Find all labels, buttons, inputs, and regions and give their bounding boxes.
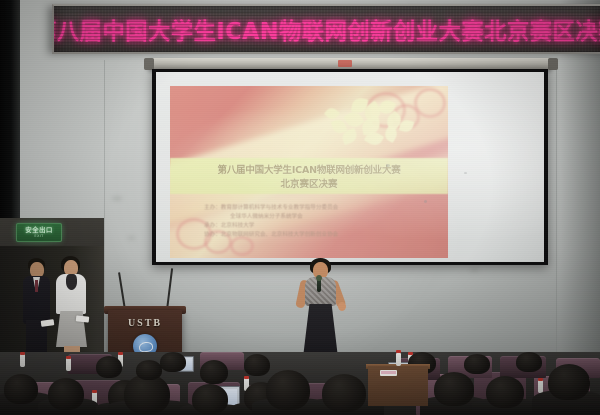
auditorium-photo: 第八届中国大学生ICAN物联网创新创业大赛北京赛区决赛	[0, 0, 600, 415]
microphone-head	[316, 275, 322, 281]
projected-slide: 第八届中国大学生ICAN物联网创新创业大赛 北京赛区决赛 主办：教育部计算机科学…	[170, 86, 448, 258]
slide-credit-line-2: 全球华人微纳米分子系统学会	[204, 213, 434, 222]
slide-floral-ornament	[322, 96, 434, 154]
wall-left-dark-panel-inner	[0, 246, 104, 366]
slide-credit-line-3: 承办：北京科技大学	[204, 222, 434, 231]
audience-member-head	[200, 360, 228, 384]
projection-screen: 第八届中国大学生ICAN物联网创新创业大赛 北京赛区决赛 主办：教育部计算机科学…	[156, 72, 544, 262]
woman-dark-scarf	[66, 274, 77, 290]
water-bottle-cap	[20, 352, 25, 355]
led-banner-text: 第八届中国大学生ICAN物联网创新创业大赛北京赛区决赛	[52, 12, 600, 46]
audience-member-head	[48, 378, 84, 410]
water-bottle	[66, 358, 71, 371]
slide-title-line2: 北京赛区决赛	[170, 176, 448, 190]
screen-mark-3	[464, 172, 467, 174]
wooden-side-table	[368, 366, 428, 406]
roller-end-right	[548, 58, 558, 70]
audience-member-head	[192, 384, 228, 414]
slide-credit-line-4: 协办：北京物联网研究会、北京科技大学创新创业协会	[204, 231, 434, 240]
water-bottle-cap	[244, 376, 249, 379]
water-bottle-cap	[118, 352, 123, 355]
audience-member-head	[486, 376, 524, 408]
audience-member-head	[244, 354, 270, 376]
emergency-exit-sign: 安全出口 EXIT	[16, 223, 62, 242]
audience-member-head	[548, 364, 590, 400]
exit-sign-english-label: EXIT	[34, 234, 43, 239]
water-bottle	[396, 353, 401, 366]
audience-member-head	[124, 374, 170, 414]
exit-sign-chinese-label: 安全出口	[25, 227, 53, 234]
water-bottle-cap	[92, 390, 97, 393]
audience-member-head	[160, 352, 186, 372]
man-necktie	[35, 280, 38, 292]
slide-credit-line-1: 主办：教育部计算机科学与技术专业教学指导分委员会	[204, 204, 434, 213]
podium-ustb-label: USTB	[108, 318, 182, 329]
audience-member-head	[4, 374, 38, 404]
slide-title-line1: 第八届中国大学生ICAN物联网创新创业大赛	[170, 162, 448, 176]
audience-member-head	[136, 360, 162, 380]
woman-paper-sheet	[76, 315, 90, 322]
screen-mark-1	[386, 164, 390, 167]
screen-mark-2	[424, 200, 427, 203]
speaker-right-hand	[338, 302, 346, 311]
audience-member-head	[516, 352, 542, 372]
water-bottle-cap	[538, 378, 543, 381]
water-bottle	[20, 354, 25, 367]
table-paper-pink-marking	[381, 371, 396, 374]
wall-left-dark-strip	[0, 0, 20, 218]
water-bottle	[538, 380, 543, 393]
wall-smudge-4	[470, 268, 479, 272]
audience-member-head	[96, 356, 122, 378]
wall-seam-right	[556, 60, 557, 360]
led-banner: 第八届中国大学生ICAN物联网创新创业大赛北京赛区决赛	[52, 4, 600, 54]
roller-red-tab	[338, 60, 352, 67]
audience-member-head	[464, 354, 490, 374]
wall-smudge-2	[128, 236, 135, 240]
water-bottle-cap	[66, 356, 71, 359]
slide-credits-block: 主办：教育部计算机科学与技术专业教学指导分委员会 全球华人微纳米分子系统学会 承…	[204, 204, 434, 240]
water-bottle-cap	[396, 350, 401, 353]
wall-smudge-1	[112, 196, 122, 201]
audience-area	[0, 352, 600, 415]
audience-member-head	[266, 370, 310, 410]
audience-member-head	[434, 372, 474, 406]
audience-member-head	[322, 374, 366, 412]
wall-seam-left	[104, 60, 105, 360]
